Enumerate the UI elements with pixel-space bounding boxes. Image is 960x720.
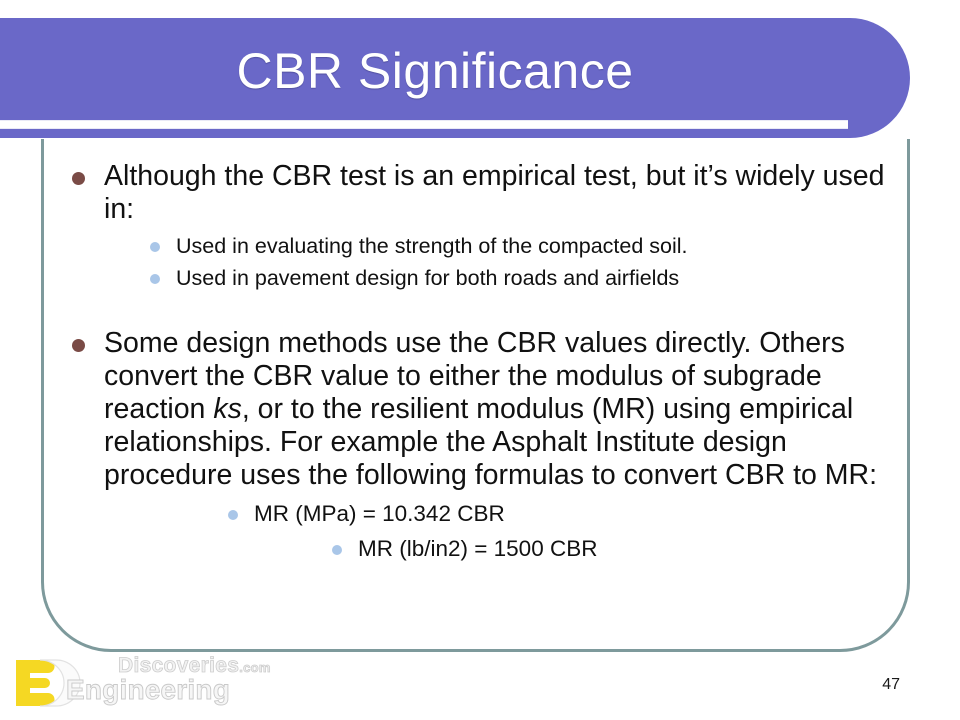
bullet-2-emphasis: ks — [213, 393, 242, 425]
logo-engineering-text: Engineering — [66, 674, 230, 706]
sub-bullet-2-text: Used in pavement design for both roads a… — [176, 266, 679, 290]
formula-list: MR (MPa) = 10.342 CBR MR (lb/in2) = 1500… — [104, 498, 900, 565]
sub-bullet-item-1: Used in evaluating the strength of the c… — [104, 232, 900, 261]
title-divider-rule — [0, 120, 848, 129]
bullet-list-level2-a: Used in evaluating the strength of the c… — [104, 232, 900, 293]
formula-item-1: MR (MPa) = 10.342 CBR — [104, 498, 900, 530]
formula-item-2: MR (lb/in2) = 1500 CBR — [104, 533, 900, 565]
sub-bullet-item-2: Used in pavement design for both roads a… — [104, 264, 900, 293]
bullet-item-1: Although the CBR test is an empirical te… — [60, 160, 900, 293]
bullet-dot-icon — [72, 339, 85, 352]
slide-canvas: CBR Significance Although the CBR test i… — [0, 0, 960, 720]
sub-bullet-1-text: Used in evaluating the strength of the c… — [176, 234, 688, 258]
bullet-list-level1: Although the CBR test is an empirical te… — [60, 160, 900, 565]
sub-bullet-dot-icon — [332, 545, 342, 555]
formula-1-text: MR (MPa) = 10.342 CBR — [254, 501, 505, 526]
sub-bullet-dot-icon — [228, 510, 238, 520]
bullet-item-2: Some design methods use the CBR values d… — [60, 327, 900, 565]
sub-bullet-dot-icon — [150, 242, 160, 252]
bullet-spacer — [60, 297, 900, 327]
logo-tld-text: .com — [239, 660, 271, 675]
page-title: CBR Significance — [0, 42, 910, 100]
slide-body: Although the CBR test is an empirical te… — [60, 160, 900, 569]
sub-bullet-dot-icon — [150, 274, 160, 284]
bullet-1-text: Although the CBR test is an empirical te… — [104, 160, 884, 225]
page-number: 47 — [882, 676, 900, 694]
site-logo: Discoveries.com Engineering — [14, 652, 294, 714]
formula-2-text: MR (lb/in2) = 1500 CBR — [358, 536, 597, 561]
bullet-dot-icon — [72, 172, 85, 185]
